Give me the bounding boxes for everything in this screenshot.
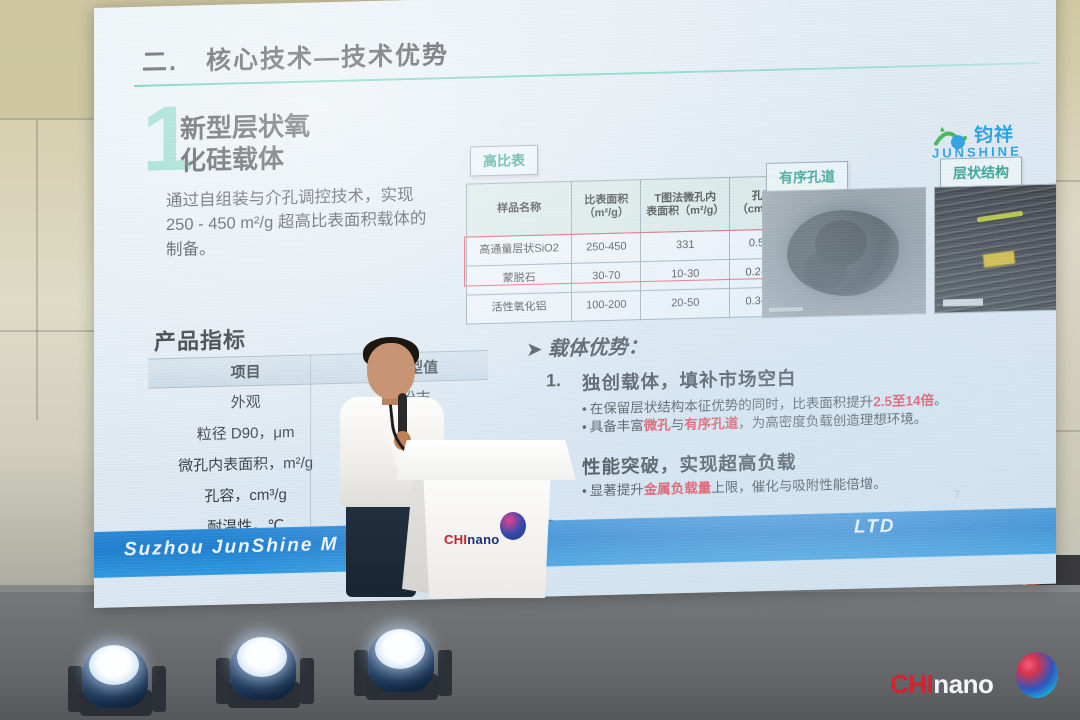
label-chip-high-surface: 高比表 [470,145,538,177]
sub-text: 显著提升 [590,482,644,498]
cell-bet: 100-200 [572,291,641,322]
slide-section-number: 二. [142,48,178,77]
sub-text: ，为高密度负载创造理想环境。 [738,411,927,431]
chinano-emblem-icon [500,512,526,540]
column-header-item: 项目 [148,358,343,384]
sub-text: 。 [934,392,948,407]
column-header: 样品名称 [467,181,572,237]
chinano-watermark: CHInano [886,652,1066,708]
cell-item: 孔容，cm³/g [148,482,343,508]
sub-text: 上限，催化与吸附性能倍增。 [711,476,887,495]
cell-bet: 30-70 [572,262,641,293]
section-title-product-index: 产品指标 [154,322,246,356]
wall-seam [36,120,38,420]
cell-item: 粒径 D90，μm [148,420,343,446]
podium-logo-chi: CHI [444,532,467,547]
junshine-logo-en: JUNSHINE [932,144,1022,161]
cell-tplot: 10-30 [641,259,730,290]
stage-light [364,624,442,698]
highlighted-text: 微孔 [644,417,671,433]
cell-name: 活性氧化铝 [467,292,572,324]
cell-tplot: 331 [641,230,730,261]
comparison-table: 样品名称比表面积（m²/g）T图法微孔内表面积（m²/g）孔容（cm³/g） 高… [466,175,796,324]
bullet-dot-icon: • [582,484,587,499]
highlighted-text: 有序孔道 [684,416,738,432]
junshine-logo: 钧祥 JUNSHINE [932,119,1052,166]
cell-item: 外观 [148,389,343,415]
cell-name: 高通量层状SiO2 [467,234,572,266]
slide-heading: 新型层状氧化硅载体 [180,108,410,177]
podium-logo-nano: nano [467,532,499,547]
banner-text-right: LTD [854,516,896,539]
slide-page-number: 7 [954,489,960,501]
column-header: 比表面积（m²/g） [572,180,641,235]
cell-tplot: 20-50 [641,288,730,319]
label-chip-ordered-pores: 有序孔道 [766,161,848,193]
table-header-row: 样品名称比表面积（m²/g）T图法微孔内表面积（m²/g）孔容（cm³/g） [467,176,796,237]
watermark-chi: CHI [890,669,933,699]
stage-light [226,632,304,706]
advantages-heading: ➤载体优势： [526,330,648,362]
wall-seam [0,330,94,332]
slide-title: 二.核心技术—技术优势 [142,35,449,79]
cell-bet: 250-450 [572,233,641,264]
podium: CHInano [396,440,576,598]
sub-text: 具备丰富 [590,418,644,434]
advantage-number: 1. [546,370,561,391]
slide-heading-line: 化硅载体 [180,140,410,178]
bullet-dot-icon: • [582,420,587,435]
chinano-ball-icon [1016,652,1058,698]
screenshot-root: 二.核心技术—技术优势 1 新型层状氧化硅载体 通过自组装与介孔调控技术，实现2… [0,0,1080,720]
slide-title-text: 核心技术—技术优势 [206,41,449,75]
highlighted-text: 金属负载量 [644,480,712,497]
wall-seam [1056,180,1080,182]
column-header: T图法微孔内表面积（m²/g） [641,177,730,232]
podium-chinano-logo: CHInano [444,532,500,547]
cell-item: 微孔内表面积，m²/g [148,451,343,477]
chevron-right-icon: ➤ [526,339,543,361]
advantage-title: 独创载体，填补市场空白 [582,364,797,395]
tem-image-layered-structure [934,184,1056,314]
bullet-dot-icon: • [582,402,587,417]
slide-paragraph: 通过自组装与介孔调控技术，实现250 - 450 m²/g 超高比表面积载体的制… [166,182,438,262]
advantages-heading-text: 载体优势： [548,336,648,361]
watermark-text: CHInano [890,669,993,700]
cell-name: 蒙脱石 [467,263,572,295]
watermark-nano: nano [933,669,993,699]
sub-text: 与 [671,417,685,432]
stage-light [78,640,156,714]
tem-image-ordered-pores [762,187,926,318]
